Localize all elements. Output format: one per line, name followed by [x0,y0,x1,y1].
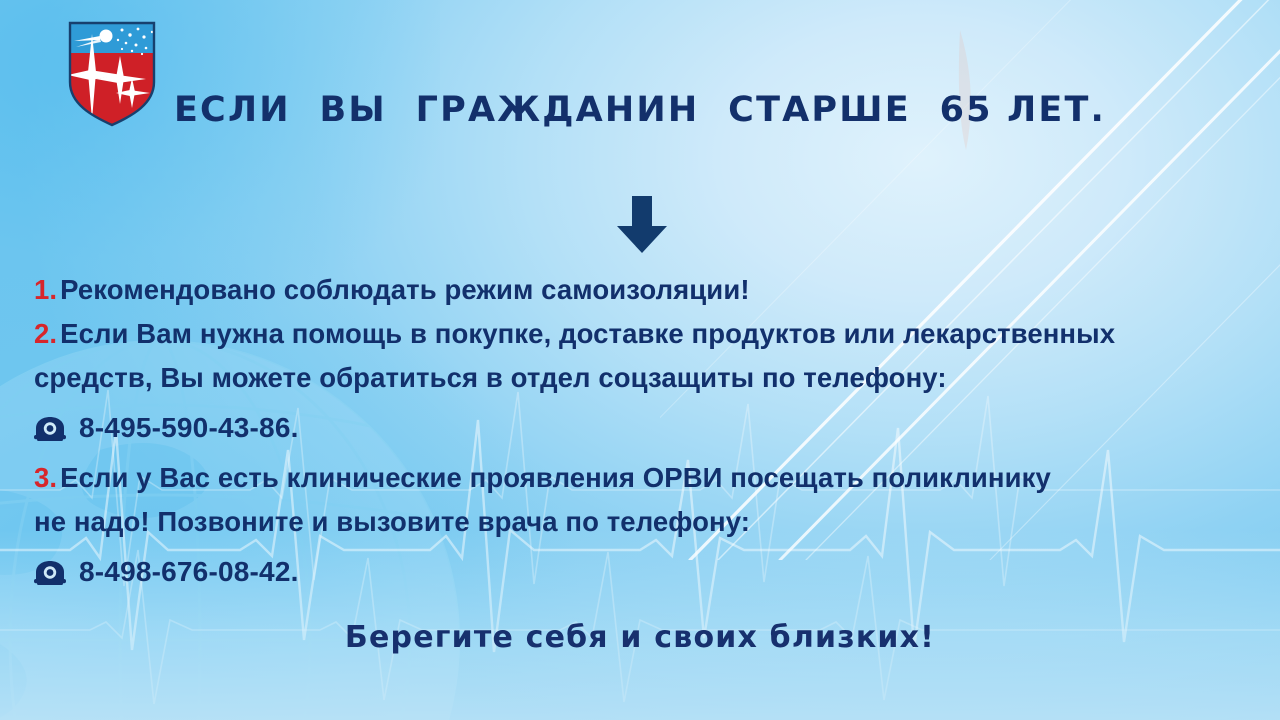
item-text: Если Вам нужна помощь в покупке, доставк… [60,318,1115,349]
item-text-continuation: средств, Вы можете обратиться в отдел со… [34,356,1262,400]
page-title: ЕСЛИ ВЫ ГРАЖДАНИН СТАРШЕ 65 ЛЕТ. [0,90,1280,130]
instructions-list: 1.Рекомендовано соблюдать режим самоизол… [34,268,1262,596]
list-item: 3.Если у Вас есть клинические проявления… [34,456,1262,500]
item-number: 2. [34,318,57,349]
phone-entry: 8-495-590-43-86. [34,404,1262,452]
item-text-continuation: не надо! Позвоните и вызовите врача по т… [34,500,1262,544]
list-item: 2.Если Вам нужна помощь в покупке, доста… [34,312,1262,356]
phone-number: 8-495-590-43-86. [79,404,299,452]
list-item: 1.Рекомендовано соблюдать режим самоизол… [34,268,1262,312]
item-text: Рекомендовано соблюдать режим самоизоляц… [60,274,749,305]
phone-entry: 8-498-676-08-42. [34,548,1262,596]
item-number: 3. [34,462,57,493]
telephone-icon [34,416,66,442]
down-arrow-icon [615,196,669,254]
item-text: Если у Вас есть клинические проявления О… [60,462,1051,493]
slide-canvas: ЕСЛИ ВЫ ГРАЖДАНИН СТАРШЕ 65 ЛЕТ. 1.Реком… [0,0,1280,720]
closing-message: Берегите себя и своих близких! [0,620,1280,655]
telephone-icon [34,560,66,586]
item-number: 1. [34,274,57,305]
phone-number: 8-498-676-08-42. [79,548,299,596]
